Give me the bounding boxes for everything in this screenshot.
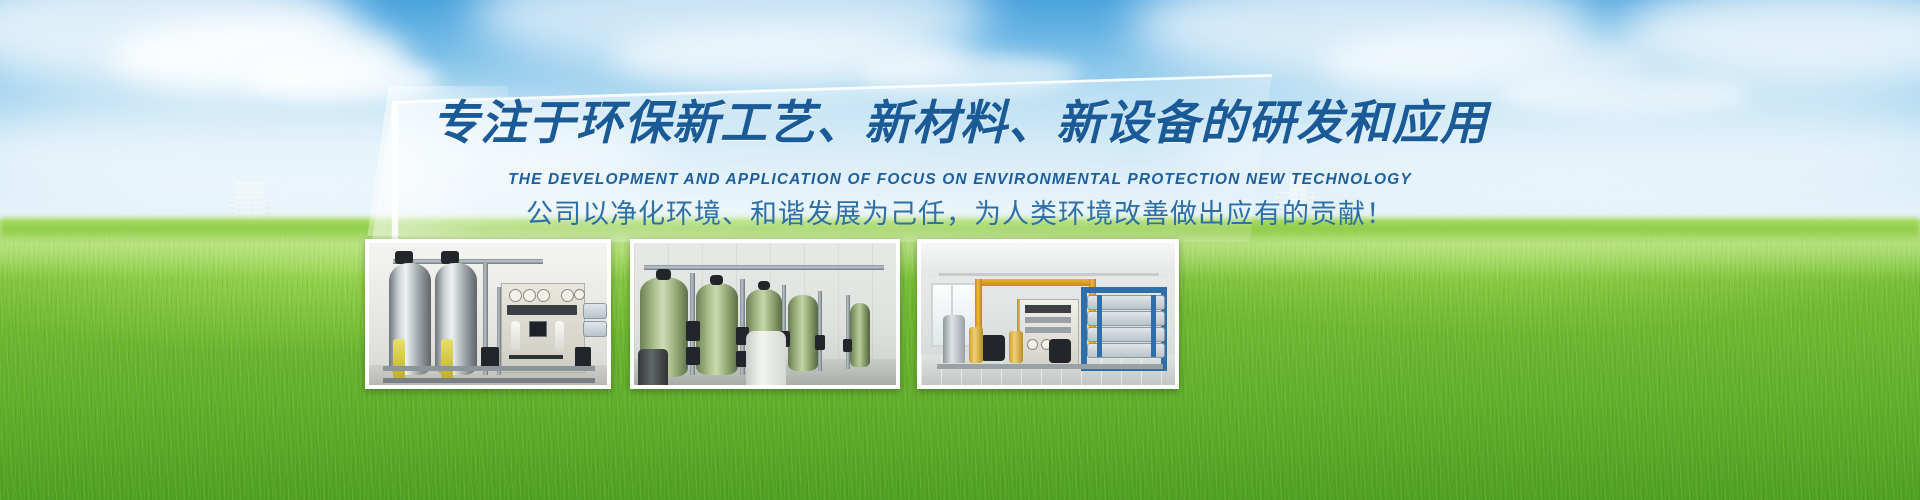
hero-banner: 专注于环保新工艺、新材料、新设备的研发和应用 THE DEVELOPMENT A… <box>0 0 1920 500</box>
product-photo-strip <box>0 0 1920 500</box>
photo-reverse-osmosis-ro-plant[interactable] <box>917 239 1179 389</box>
photo-stainless-steel-water-treatment-system[interactable] <box>365 239 611 389</box>
photo-frp-filter-tank-row[interactable] <box>630 239 900 389</box>
